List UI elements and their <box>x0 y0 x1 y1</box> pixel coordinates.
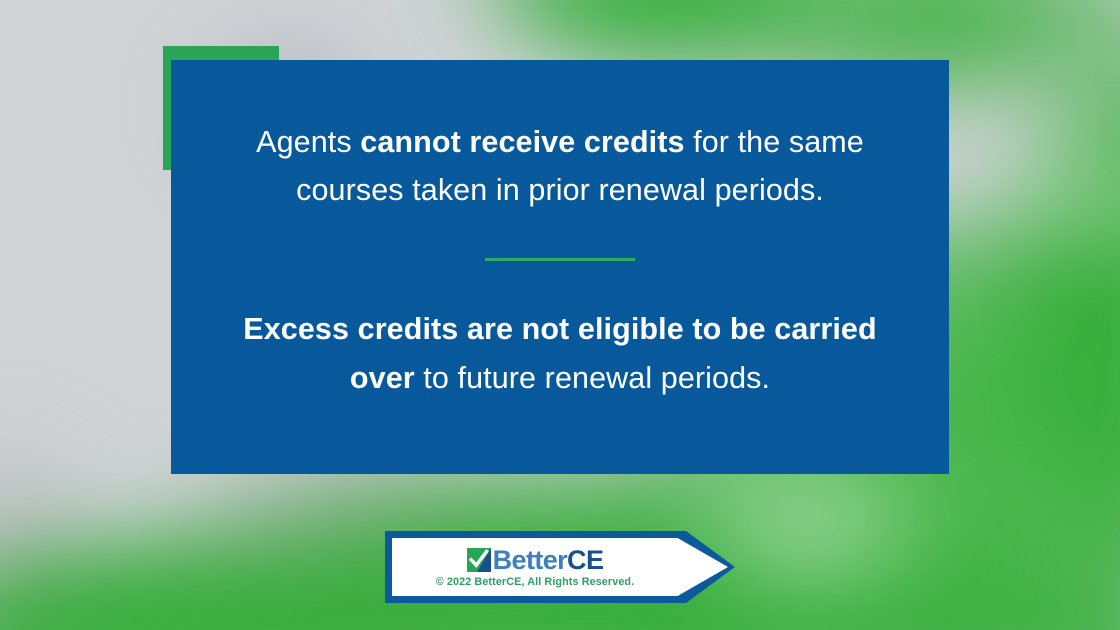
footer-badge: BetterCE © 2022 BetterCE, All Rights Res… <box>385 531 735 603</box>
statement-1-segment-2: cannot receive credits <box>360 125 684 159</box>
copyright-notice: © 2022 BetterCE, All Rights Reserved. <box>436 576 634 588</box>
statement-prior-periods: Agents cannot receive credits for the sa… <box>215 118 905 214</box>
panel-divider <box>485 258 635 261</box>
wordmark-better: Better <box>493 545 567 575</box>
wordmark-ce: CE <box>567 545 603 575</box>
badge-content: BetterCE © 2022 BetterCE, All Rights Res… <box>385 531 685 603</box>
content-panel: Agents cannot receive credits for the sa… <box>171 60 949 474</box>
statement-carry-over: Excess credits are not eligible to be ca… <box>215 305 905 401</box>
brand-logo[interactable]: BetterCE <box>467 547 604 574</box>
brand-wordmark: BetterCE <box>493 547 604 574</box>
bettercE-check-mark-icon <box>467 548 491 572</box>
statement-2-segment-2: to future renewal periods. <box>415 361 770 395</box>
statement-1-segment-1: Agents <box>256 125 360 159</box>
slide-canvas: Agents cannot receive credits for the sa… <box>0 0 1120 630</box>
